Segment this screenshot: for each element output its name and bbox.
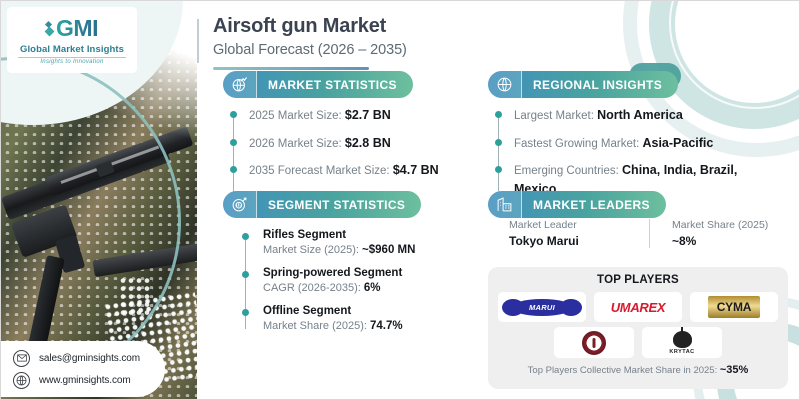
top-players-row-1: MARUI UMAREX CYMA: [498, 292, 778, 322]
regional-insights-list: Largest Market: North AmericaFastest Gro…: [494, 106, 769, 198]
page-title: Airsoft gun Market: [213, 15, 407, 38]
bullet-dot: [230, 166, 237, 173]
segment-detail: CAGR (2026-2035): 6%: [263, 282, 477, 294]
bullet-dot: [242, 271, 249, 278]
logo-text: GMI: [56, 15, 98, 42]
market-share-col: Market Share (2025) ~8%: [649, 219, 779, 248]
krytac-mark-wrap: KRYTAC: [669, 331, 694, 355]
title-underline: [213, 67, 369, 70]
segment-detail: Market Size (2025): ~$960 MN: [263, 244, 477, 256]
target-chart-icon: [223, 191, 257, 218]
list-connector: [233, 113, 234, 200]
list-item-value: $4.7 BN: [393, 163, 439, 177]
player-logo-umarex[interactable]: UMAREX: [594, 292, 682, 322]
envelope-icon: [13, 350, 30, 367]
krytac-crest-icon: [673, 331, 692, 348]
top-players-row-2: KRYTAC: [498, 327, 778, 358]
top-players-footer-value: ~35%: [720, 364, 748, 376]
market-share-label: Market Share (2025): [672, 219, 779, 231]
marui-label: MARUI: [529, 303, 555, 312]
contact-email-row[interactable]: sales@gminsights.com: [13, 350, 165, 367]
logo-tagline: Insights to Innovation: [40, 59, 103, 65]
marui-oval-mark: MARUI: [511, 299, 573, 316]
company-logo: GMI Global Market Insights Insights to I…: [7, 7, 137, 73]
list-item-value: $2.7 BN: [345, 108, 391, 122]
bullet-dot: [230, 139, 237, 146]
list-item-text: 2026 Market Size: $2.8 BN: [249, 138, 391, 150]
market-leader-col: Market Leader Tokyo Marui: [509, 219, 639, 248]
infographic-canvas: GMI Global Market Insights Insights to I…: [0, 0, 800, 400]
bullet-dot: [230, 111, 237, 118]
list-item: 2025 Market Size: $2.7 BN: [229, 106, 469, 125]
section-header-market-statistics: MARKET STATISTICS: [223, 71, 413, 98]
section-title: SEGMENT STATISTICS: [257, 198, 421, 212]
list-item-text: 2035 Forecast Market Size: $4.7 BN: [249, 165, 439, 177]
top-players-title: TOP PLAYERS: [498, 274, 778, 286]
contact-website: www.gminsights.com: [39, 375, 131, 386]
globe-chart-icon: [223, 71, 257, 98]
segment-title: Spring-powered Segment: [263, 267, 477, 279]
player-logo-cyma[interactable]: CYMA: [690, 292, 778, 322]
bullet-dot: [242, 233, 249, 240]
list-item: Offline SegmentMarket Share (2025): 74.7…: [241, 305, 477, 332]
list-item-label: Fastest Growing Market:: [514, 138, 639, 150]
contact-email: sales@gminsights.com: [39, 353, 140, 364]
segment-label: Market Share (2025):: [263, 320, 367, 332]
top-players-panel: TOP PLAYERS MARUI UMAREX CYMA: [488, 267, 788, 389]
list-item: Rifles SegmentMarket Size (2025): ~$960 …: [241, 229, 477, 256]
list-item-value: $2.8 BN: [345, 136, 391, 150]
bullet-dot: [495, 166, 502, 173]
list-item-label: 2035 Forecast Market Size:: [249, 165, 390, 177]
list-item: Largest Market: North America: [494, 106, 769, 125]
market-leader-label: Market Leader: [509, 219, 639, 231]
diamond-icon: [46, 22, 53, 35]
list-item: Fastest Growing Market: Asia-Pacific: [494, 134, 769, 153]
page-subtitle: Global Forecast (2026 – 2035): [213, 42, 407, 58]
market-share-value: ~8%: [672, 234, 779, 248]
bullet-dot: [242, 309, 249, 316]
crest-emblem-icon: [582, 331, 606, 355]
list-item-text: 2025 Market Size: $2.7 BN: [249, 110, 391, 122]
list-item-value: North America: [597, 108, 683, 122]
list-item: 2026 Market Size: $2.8 BN: [229, 134, 469, 153]
contact-website-row[interactable]: www.gminsights.com: [13, 372, 165, 389]
section-header-regional-insights: REGIONAL INSIGHTS: [488, 71, 678, 98]
section-title: REGIONAL INSIGHTS: [522, 78, 678, 92]
market-leader-value: Tokyo Marui: [509, 234, 639, 248]
top-players-footer-label: Top Players Collective Market Share in 2…: [528, 365, 718, 376]
segment-title: Rifles Segment: [263, 229, 477, 241]
section-title: MARKET STATISTICS: [257, 78, 413, 92]
segment-detail: Market Share (2025): 74.7%: [263, 320, 477, 332]
section-header-segment-statistics: SEGMENT STATISTICS: [223, 191, 421, 218]
bar-chart-building-icon: [488, 191, 522, 218]
list-item-text: Fastest Growing Market: Asia-Pacific: [514, 138, 713, 150]
segment-label: Market Size (2025):: [263, 244, 359, 256]
segment-value: 6%: [364, 282, 381, 294]
player-logo-krytac[interactable]: KRYTAC: [642, 327, 722, 358]
cyma-label: CYMA: [717, 300, 752, 314]
cyma-plate: CYMA: [708, 296, 761, 318]
segment-title: Offline Segment: [263, 305, 477, 317]
bullet-dot: [495, 111, 502, 118]
section-header-market-leaders: MARKET LEADERS: [488, 191, 666, 218]
list-item: 2035 Forecast Market Size: $4.7 BN: [229, 161, 469, 180]
logo-mark-row: GMI: [46, 15, 98, 42]
player-logo-emblem[interactable]: [554, 327, 634, 358]
segment-label: CAGR (2026-2035):: [263, 282, 361, 294]
segment-value: ~$960 MN: [362, 244, 415, 256]
list-item-value: Asia-Pacific: [642, 136, 713, 150]
contact-block: sales@gminsights.com www.gminsights.com: [1, 341, 165, 397]
globe-icon: [13, 372, 30, 389]
list-item-label: 2026 Market Size:: [249, 138, 342, 150]
list-item-label: Emerging Countries:: [514, 165, 619, 177]
logo-company-name: Global Market Insights: [20, 44, 124, 55]
page-title-block: Airsoft gun Market Global Forecast (2026…: [197, 15, 407, 58]
globe-icon: [488, 71, 522, 98]
segment-statistics-list: Rifles SegmentMarket Size (2025): ~$960 …: [241, 229, 477, 343]
player-logo-marui[interactable]: MARUI: [498, 292, 586, 322]
segment-value: 74.7%: [370, 320, 403, 332]
market-leaders-block: Market Leader Tokyo Marui Market Share (…: [509, 219, 779, 248]
umarex-label: UMAREX: [611, 300, 666, 315]
logo-divider: [18, 57, 126, 58]
list-item-text: Largest Market: North America: [514, 110, 683, 122]
krytac-label: KRYTAC: [669, 349, 694, 355]
list-item: Spring-powered SegmentCAGR (2026-2035): …: [241, 267, 477, 294]
section-title: MARKET LEADERS: [522, 198, 666, 212]
list-item-label: 2025 Market Size:: [249, 110, 342, 122]
bullet-dot: [495, 139, 502, 146]
top-players-footer: Top Players Collective Market Share in 2…: [498, 364, 778, 376]
list-item-label: Largest Market:: [514, 110, 594, 122]
